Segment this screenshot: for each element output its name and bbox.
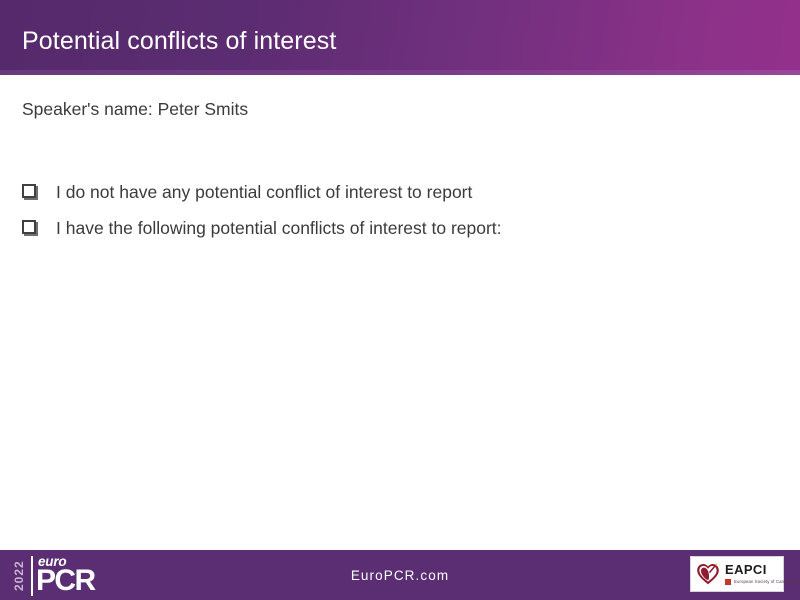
checkbox-unchecked-icon[interactable] xyxy=(22,220,36,234)
slide: Potential conflicts of interest Speaker'… xyxy=(0,0,800,600)
option-label: I do not have any potential conflict of … xyxy=(56,180,472,204)
option-label: I have the following potential conflicts… xyxy=(56,216,502,240)
eapci-name-label: EAPCI xyxy=(725,563,797,577)
slide-footer: 2022 euro PCR EuroPCR.com xyxy=(0,550,800,600)
page-title: Potential conflicts of interest xyxy=(22,26,336,56)
europcr-logo: 2022 euro PCR xyxy=(10,552,100,598)
list-item[interactable]: I do not have any potential conflict of … xyxy=(22,180,762,204)
footer-url-text: EuroPCR.com xyxy=(0,550,800,600)
speaker-name-line: Speaker's name: Peter Smits xyxy=(22,97,248,121)
eapci-subtitle-row: European Society of Cardiology xyxy=(725,579,797,585)
slide-body: Speaker's name: Peter Smits I do not hav… xyxy=(0,75,800,550)
eapci-text-block: EAPCI European Society of Cardiology xyxy=(725,563,797,585)
esc-mark-icon xyxy=(725,579,731,585)
eapci-logo: EAPCI European Society of Cardiology xyxy=(690,556,784,592)
logo-year-label: 2022 xyxy=(10,555,28,597)
slide-header: Potential conflicts of interest xyxy=(0,0,800,75)
eapci-subtitle-label: European Society of Cardiology xyxy=(734,579,797,585)
disclosure-options-list: I do not have any potential conflict of … xyxy=(22,180,762,252)
logo-pcr-label: PCR xyxy=(36,565,95,597)
logo-divider xyxy=(31,556,33,596)
list-item[interactable]: I have the following potential conflicts… xyxy=(22,216,762,240)
heart-with-catheter-icon xyxy=(695,561,721,587)
checkbox-unchecked-icon[interactable] xyxy=(22,184,36,198)
